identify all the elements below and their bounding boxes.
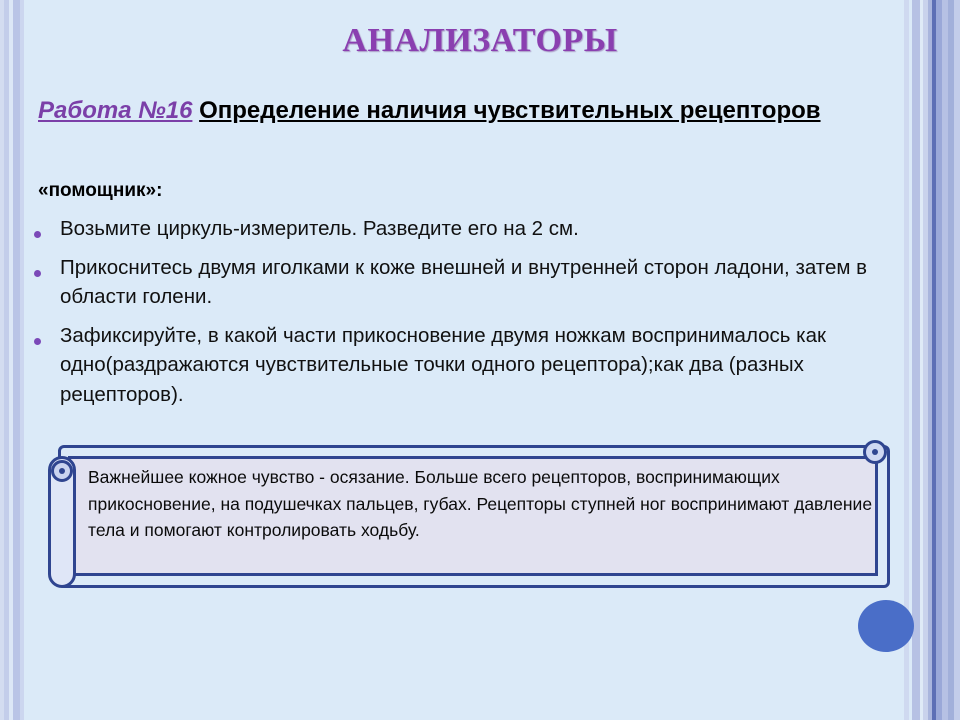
note-text-block: Важнейшее кожное чувство - осязание. Бол… [88,464,878,544]
work-title-label: Определение наличия чувствительных рецеп… [199,97,820,124]
slide-title: АНАЛИЗАТОРЫ [0,22,960,60]
list-item: Зафиксируйте, в какой части прикосновени… [34,321,914,410]
list-item-text: Возьмите циркуль-измеритель. Разведите е… [60,214,914,244]
blue-circle-decoration [858,600,914,652]
work-number-label: Работа №16 [38,97,192,124]
left-edge-stripes-decoration [0,0,36,720]
list-item-text: Прикоснитесь двумя иголками к коже внешн… [60,253,914,312]
bullet-dot-icon [34,214,60,243]
list-item: Прикоснитесь двумя иголками к коже внешн… [34,253,914,312]
scroll-right-spiral-icon [863,440,887,464]
instruction-list: Возьмите циркуль-измеритель. Разведите е… [34,214,914,418]
note-text: Важнейшее кожное чувство - осязание. Бол… [88,464,878,544]
note-scroll-box: Важнейшее кожное чувство - осязание. Бол… [40,442,900,594]
bullet-dot-icon [34,321,60,350]
bullet-dot-icon [34,253,60,282]
list-item: Возьмите циркуль-измеритель. Разведите е… [34,214,914,244]
work-heading: Работа №16 Определение наличия чувствите… [38,96,868,127]
presentation-slide: АНАЛИЗАТОРЫ Работа №16 Определение налич… [0,0,960,720]
helper-label: «помощник»: [38,180,162,202]
scroll-left-spiral-icon [51,460,73,482]
list-item-text: Зафиксируйте, в какой части прикосновени… [60,321,914,410]
